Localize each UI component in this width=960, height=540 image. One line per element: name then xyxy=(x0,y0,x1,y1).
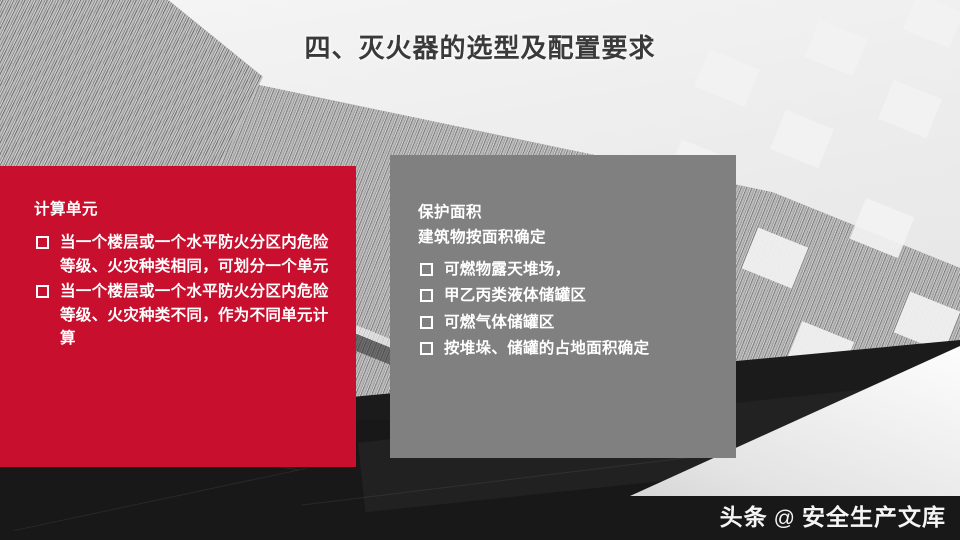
list-item-text: 可燃物露天堆场， xyxy=(444,261,570,278)
list-item: 当一个楼层或一个水平防火分区内危险等级、火灾种类不同，作为不同单元计算 xyxy=(34,280,340,351)
square-bullet-icon xyxy=(36,285,49,298)
gray-panel-bullet-list: 可燃物露天堆场， 甲乙丙类液体储罐区 可燃气体储罐区 按堆垛、储罐的占地面积确定 xyxy=(418,258,722,361)
gray-content-panel: 保护面积 建筑物按面积确定 可燃物露天堆场， 甲乙丙类液体储罐区 可燃气体储罐区… xyxy=(390,155,736,458)
square-bullet-icon xyxy=(420,263,433,276)
list-item-text: 可燃气体储罐区 xyxy=(444,314,555,331)
list-item: 按堆垛、储罐的占地面积确定 xyxy=(418,337,722,361)
red-panel-heading: 计算单元 xyxy=(34,198,340,221)
square-bullet-icon xyxy=(420,289,433,302)
red-panel-bullet-list: 当一个楼层或一个水平防火分区内危险等级、火灾种类相同，可划分一个单元 当一个楼层… xyxy=(34,231,340,351)
watermark-brand: 头条 xyxy=(720,498,768,532)
slide-canvas: 四、灭火器的选型及配置要求 计算单元 当一个楼层或一个水平防火分区内危险等级、火… xyxy=(0,0,960,540)
list-item-text: 当一个楼层或一个水平防火分区内危险等级、火灾种类不同，作为不同单元计算 xyxy=(60,283,329,347)
list-item: 甲乙丙类液体储罐区 xyxy=(418,284,722,308)
list-item: 当一个楼层或一个水平防火分区内危险等级、火灾种类相同，可划分一个单元 xyxy=(34,231,340,278)
gray-panel-heading: 保护面积 xyxy=(418,201,722,224)
square-bullet-icon xyxy=(420,342,433,355)
list-item-text: 按堆垛、储罐的占地面积确定 xyxy=(444,340,649,357)
list-item-text: 当一个楼层或一个水平防火分区内危险等级、火灾种类相同，可划分一个单元 xyxy=(60,234,329,275)
square-bullet-icon xyxy=(36,236,49,249)
list-item: 可燃气体储罐区 xyxy=(418,311,722,335)
list-item: 可燃物露天堆场， xyxy=(418,258,722,282)
watermark: 头条 @ 安全生产文库 xyxy=(720,498,946,532)
page-title: 四、灭火器的选型及配置要求 xyxy=(0,28,960,65)
watermark-account: 安全生产文库 xyxy=(802,498,946,532)
watermark-at-symbol: @ xyxy=(774,507,796,531)
red-content-panel: 计算单元 当一个楼层或一个水平防火分区内危险等级、火灾种类相同，可划分一个单元 … xyxy=(0,166,356,465)
list-item-text: 甲乙丙类液体储罐区 xyxy=(444,287,586,304)
gray-panel-subheading: 建筑物按面积确定 xyxy=(418,226,722,249)
square-bullet-icon xyxy=(420,316,433,329)
